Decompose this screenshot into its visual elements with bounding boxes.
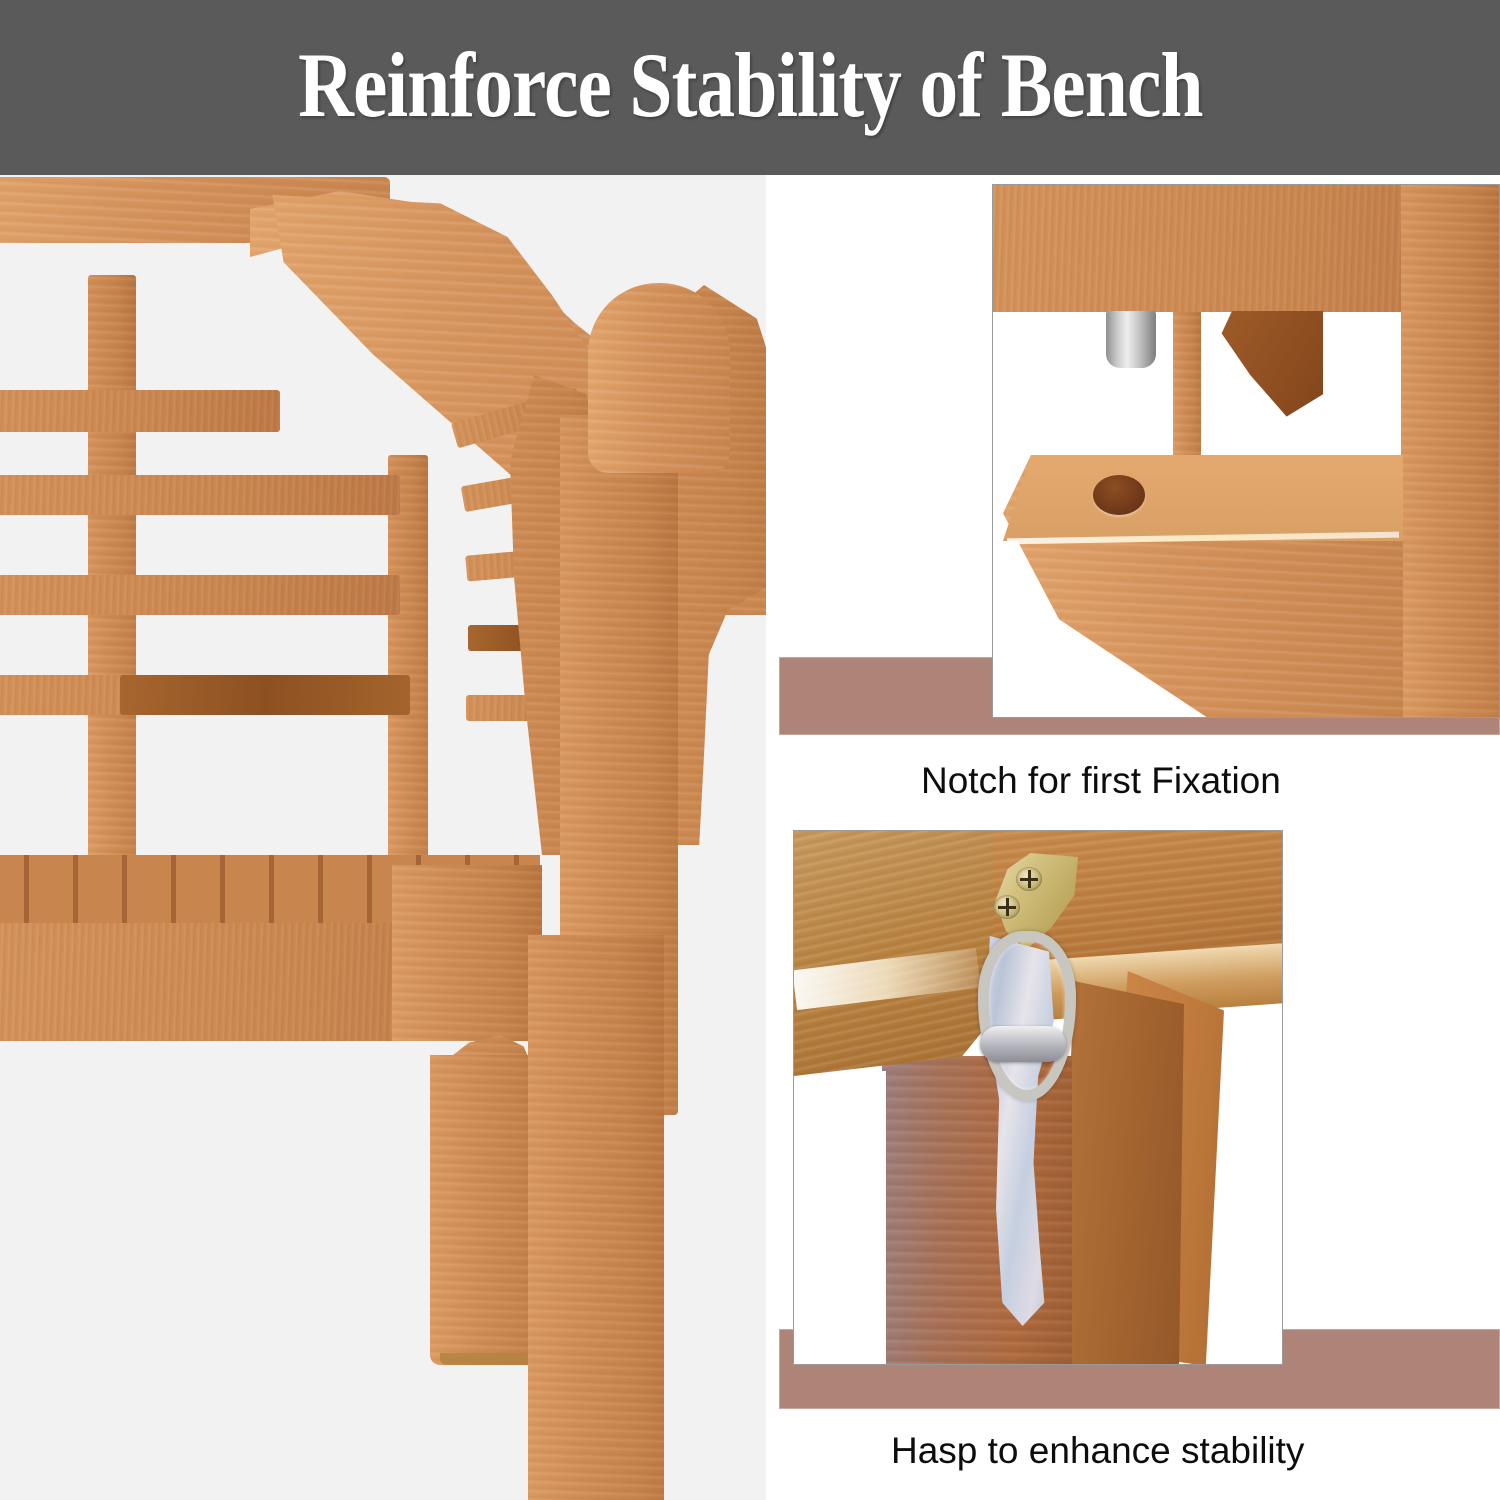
- notch-dark-brace: [1193, 311, 1323, 471]
- bench-rear-leg: [528, 935, 664, 1500]
- bench-back-post-right: [388, 455, 428, 875]
- hasp-photo: [793, 830, 1283, 1365]
- notch-background-post: [1401, 185, 1500, 718]
- caption-hasp: Hasp to enhance stability: [891, 1430, 1304, 1472]
- detail-card-hasp: Hasp to enhance stability: [766, 830, 1500, 1500]
- notch-center-stem: [1173, 312, 1201, 472]
- hero-bench-photo: [0, 175, 766, 1500]
- bench-front-leg-foot: [440, 1353, 540, 1365]
- detail-card-notch: Notch for first Fixation: [766, 175, 1500, 820]
- bench-illustration: [0, 175, 766, 1500]
- bench-arm-knob: [588, 283, 730, 473]
- notch-drilled-hole: [1093, 475, 1145, 515]
- hasp-center-post: [882, 1056, 1072, 1365]
- screw-icon-lower: [994, 895, 1020, 919]
- page-title: Reinforce Stability of Bench: [298, 39, 1202, 137]
- header-banner: Reinforce Stability of Bench: [0, 0, 1500, 175]
- bench-back-rail-4-shadow: [120, 675, 410, 715]
- screw-icon-upper: [1016, 867, 1042, 891]
- hasp-right-leg: [1059, 981, 1184, 1365]
- bench-back-rail-3: [0, 575, 400, 615]
- notch-photo: [992, 184, 1500, 718]
- metal-dowel-pin-icon: [1106, 311, 1156, 368]
- notch-leg-block-top-face: [1003, 455, 1403, 541]
- bench-back-rail-1: [0, 390, 280, 432]
- hasp-pivot-pin: [980, 1026, 1066, 1062]
- bench-back-rail-2: [0, 475, 400, 515]
- bench-seat-side-rail: [392, 865, 542, 1041]
- hasp-background-gap: [794, 1071, 886, 1365]
- bench-back-post-left: [88, 275, 136, 865]
- caption-notch: Notch for first Fixation: [921, 760, 1281, 802]
- detail-panels: Notch for first Fixation Hasp to enhance…: [766, 175, 1500, 1500]
